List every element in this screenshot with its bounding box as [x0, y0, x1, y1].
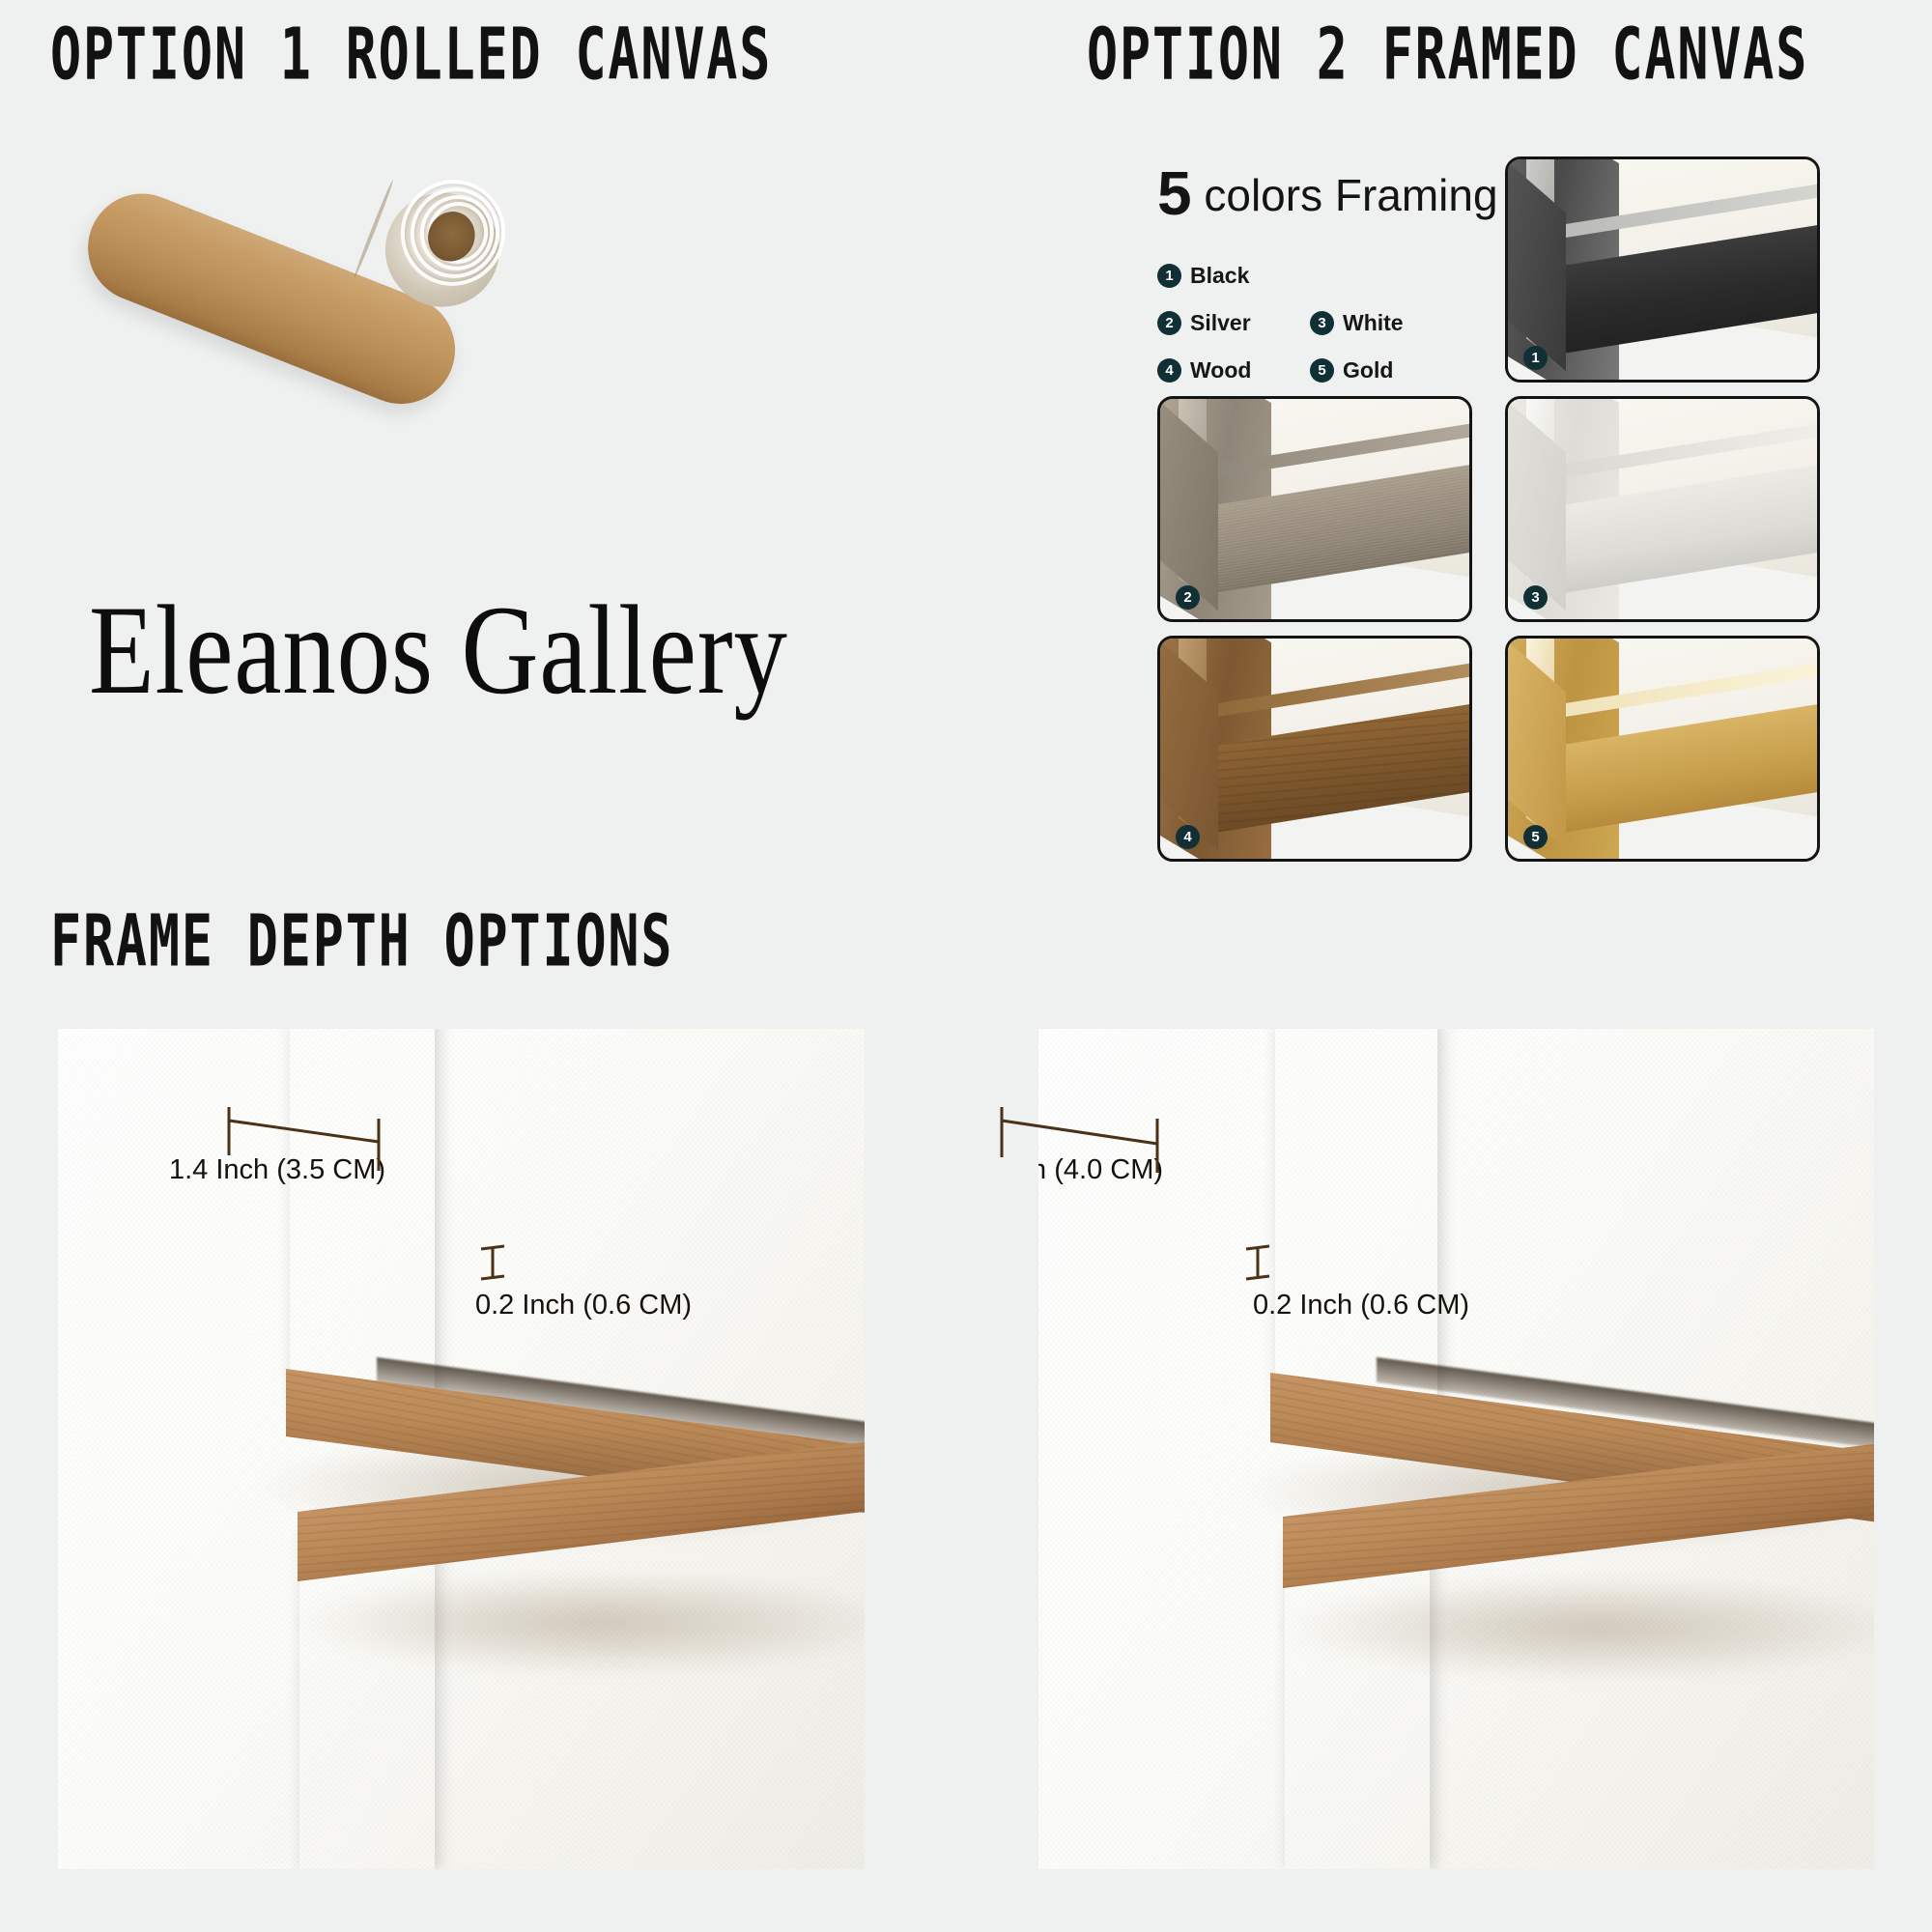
legend-item-wood: 4 Wood	[1157, 357, 1310, 384]
gold-frame-swatch[interactable]: 5	[1505, 636, 1820, 862]
rail-shadow-lower	[290, 1570, 865, 1676]
badge-number-icon: 2	[1176, 585, 1200, 610]
frame-corner-illustration	[1508, 639, 1817, 859]
frame-corner-illustration	[1160, 639, 1469, 859]
frame-corner-illustration	[1508, 159, 1817, 380]
legend-label: Gold	[1343, 357, 1393, 384]
badge-number-icon: 1	[1523, 346, 1548, 370]
black-frame-swatch[interactable]: 1	[1505, 156, 1820, 383]
white-frame-swatch[interactable]: 3	[1505, 396, 1820, 622]
badge-number-icon: 3	[1523, 585, 1548, 610]
framing-legend: 5 colors Framing 1 Black 2 Silver 3 Whit…	[1157, 162, 1505, 405]
legend-row: 4 Wood 5 Gold	[1157, 357, 1505, 384]
wood-frame-swatch[interactable]: 4	[1157, 636, 1472, 862]
depth-dimension-label: 1.6 Inch (4.0 CM)	[1038, 1154, 1163, 1186]
rolled-canvas-tube-image	[82, 145, 584, 415]
frame-depth-heading: FRAME DEPTH OPTIONS	[50, 898, 673, 982]
depth-dimension-label: 1.4 Inch (3.5 CM)	[169, 1154, 385, 1186]
brand-wordmark: Eleanos Gallery	[89, 576, 788, 724]
badge-number-icon: 1	[1157, 264, 1181, 288]
legend-item-black: 1 Black	[1157, 263, 1310, 289]
thickness-dimension-label: 0.2 Inch (0.6 CM)	[475, 1290, 692, 1321]
vertical-frame-rail	[290, 1029, 435, 1406]
frame-corner-illustration	[1160, 399, 1469, 619]
legend-row: 2 Silver 3 White	[1157, 310, 1505, 336]
frame-corner-illustration	[1508, 399, 1817, 619]
rail-shadow-lower	[1275, 1575, 1874, 1681]
badge-number-icon: 2	[1157, 311, 1181, 335]
legend-row: 1 Black	[1157, 263, 1505, 289]
badge-number-icon: 5	[1310, 358, 1334, 383]
legend-label: Silver	[1190, 310, 1251, 336]
badge-number-icon: 4	[1176, 825, 1200, 849]
legend-label: White	[1343, 310, 1404, 336]
silver-frame-swatch[interactable]: 2	[1157, 396, 1472, 622]
framing-legend-title: 5 colors Framing	[1157, 162, 1505, 224]
depth-option-1-6-inch: 1.6 Inch (4.0 CM) 0.2 Inch (0.6 CM)	[1038, 1029, 1874, 1869]
legend-item-white: 3 White	[1310, 310, 1463, 336]
legend-label: Black	[1190, 263, 1249, 289]
vertical-frame-rail	[1275, 1029, 1437, 1410]
framing-count: 5	[1157, 158, 1192, 228]
badge-number-icon: 3	[1310, 311, 1334, 335]
depth-option-1-4-inch: 1.4 Inch (3.5 CM) 0.2 Inch (0.6 CM)	[58, 1029, 865, 1869]
option-1-heading: OPTION 1 ROLLED CANVAS	[50, 12, 772, 96]
badge-number-icon: 5	[1523, 825, 1548, 849]
thickness-dimension-label: 0.2 Inch (0.6 CM)	[1253, 1290, 1469, 1321]
legend-label: Wood	[1190, 357, 1251, 384]
option-2-heading: OPTION 2 FRAMED CANVAS	[1087, 12, 1808, 96]
badge-number-icon: 4	[1157, 358, 1181, 383]
legend-item-gold: 5 Gold	[1310, 357, 1463, 384]
framing-title-text: colors Framing	[1192, 170, 1498, 220]
legend-item-silver: 2 Silver	[1157, 310, 1310, 336]
